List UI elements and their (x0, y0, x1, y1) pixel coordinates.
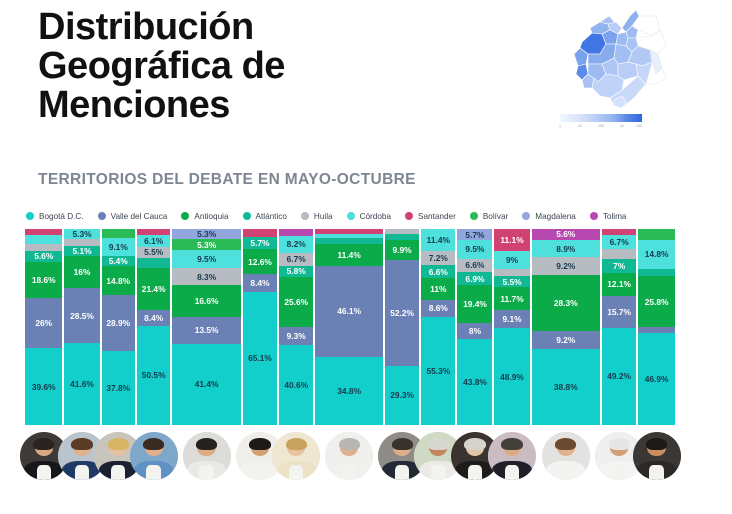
chart-column[interactable]: 9.1%5.4%14.8%28.9%37.8% (102, 229, 135, 425)
chart-segment[interactable]: 41.6% (64, 343, 99, 425)
chart-segment-label: 5.7% (457, 230, 492, 240)
avatar-hair (555, 438, 576, 450)
chart-segment-label: 9.5% (172, 254, 240, 264)
avatar[interactable] (325, 432, 373, 480)
chart-segment-label: 13.5% (172, 325, 240, 335)
page-title-line-3: Menciones (38, 86, 518, 125)
chart-segment-label: 6.9% (457, 274, 492, 284)
legend-item-label: Bolívar (483, 212, 508, 221)
chart-segment-label: 46.9% (638, 374, 675, 384)
chart-segment[interactable]: 12.6% (243, 249, 277, 275)
chart-segment[interactable]: 5.8% (279, 266, 313, 277)
chart-segment-label: 8% (457, 326, 492, 336)
avatar-cell[interactable] (315, 432, 383, 488)
chart-segment-label: 5.3% (64, 229, 99, 239)
chart-segment[interactable]: 9.5% (172, 250, 240, 269)
avatar-cell[interactable] (172, 432, 240, 488)
chart-segment[interactable]: 9.9% (385, 240, 419, 260)
legend-swatch-icon (405, 212, 413, 220)
chart-segment[interactable]: 5.4% (102, 256, 135, 267)
chart-segment[interactable]: 39.6% (25, 348, 62, 425)
legend-item-label: Tolima (603, 212, 627, 221)
colombia-map: 1 10 100 1k 10k (552, 2, 680, 140)
chart-segment-label: 38.8% (532, 382, 600, 392)
chart-segment-label: 39.6% (25, 382, 62, 392)
chart-segment[interactable]: 9.1% (102, 238, 135, 256)
legend-swatch-icon (347, 212, 355, 220)
chart-segment-label: 5.7% (243, 238, 277, 248)
avatar-shirt (395, 465, 409, 480)
chart-segment[interactable]: 38.8% (532, 349, 600, 425)
chart-column[interactable]: 5.7%9.5%6.6%6.9%19.4%8%43.8% (457, 229, 492, 425)
chart-segment[interactable]: 25.8% (638, 276, 675, 327)
legend-item-label: Córdoba (360, 212, 391, 221)
chart-segment[interactable]: 14.8% (102, 266, 135, 295)
chart-segment-label: 11.7% (494, 294, 529, 304)
chart-segment[interactable]: 9.1% (494, 310, 529, 328)
chart-segment-label: 49.2% (602, 371, 636, 381)
avatar-hair (108, 438, 129, 450)
avatar-cell[interactable] (279, 432, 313, 488)
map-tick-4: 10k (636, 124, 642, 128)
chart-column[interactable]: 8.2%6.7%5.8%25.6%9.3%40.6% (279, 229, 313, 425)
map-tick-2: 100 (598, 124, 604, 128)
chart-segment-label: 9.2% (532, 261, 600, 271)
chart-segment[interactable]: 7.2% (421, 251, 455, 265)
chart-segment-label: 9.5% (457, 244, 492, 254)
chart-segment-label: 34.8% (315, 386, 383, 396)
avatar-cell[interactable] (532, 432, 600, 488)
avatar-shirt (253, 465, 267, 480)
chart-segment-label: 26% (25, 318, 62, 328)
avatar-hair (428, 438, 449, 450)
chart-segment[interactable]: 14.8% (638, 240, 675, 269)
avatar-hair (71, 438, 92, 450)
chart-segment-label: 28.9% (102, 318, 135, 328)
legend-item-huila[interactable]: Huila (301, 212, 333, 221)
chart-segment[interactable]: 11.4% (315, 244, 383, 266)
avatar-cell[interactable] (25, 432, 62, 488)
chart-segment[interactable]: 25.6% (279, 277, 313, 327)
chart-column[interactable]: 5.6%18.6%26%39.6% (25, 229, 62, 425)
chart-column[interactable]: 5.3%5.3%9.5%8.3%16.6%13.5%41.4% (172, 229, 240, 425)
chart-segment[interactable] (602, 249, 636, 259)
chart-segment-label: 28.3% (532, 298, 600, 308)
candidate-photo-row (25, 432, 675, 488)
avatar-hair (464, 438, 485, 450)
chart-segment-label: 5.1% (64, 246, 99, 256)
chart-segment-label: 5.6% (25, 251, 62, 261)
chart-segment[interactable]: 6.1% (137, 235, 170, 247)
chart-segment[interactable] (64, 239, 99, 246)
avatar-hair (286, 438, 307, 450)
chart-segment[interactable]: 50.5% (137, 326, 170, 425)
chart-segment[interactable]: 15.7% (602, 296, 636, 327)
legend-item-label: Bogotá D.C. (39, 212, 84, 221)
chart-segment[interactable]: 9.2% (532, 331, 600, 349)
chart-segment-label: 5.3% (172, 229, 240, 239)
avatar-hair (646, 438, 667, 450)
chart-legend: Bogotá D.C.Valle del CaucaAntioquiaAtlán… (26, 208, 726, 224)
chart-column[interactable]: 14.8%25.8%46.9% (638, 229, 675, 425)
chart-segment-label: 25.6% (279, 297, 313, 307)
chart-segment-label: 9.1% (494, 314, 529, 324)
chart-segment-label: 5.4% (102, 256, 135, 266)
chart-segment-label: 41.6% (64, 379, 99, 389)
avatar-shirt (75, 465, 89, 480)
chart-segment[interactable]: 8.4% (137, 310, 170, 326)
chart-segment[interactable] (638, 269, 675, 277)
legend-item-label: Valle del Cauca (111, 212, 168, 221)
legend-swatch-icon (590, 212, 598, 220)
chart-segment-label: 9.2% (532, 335, 600, 345)
chart-segment-label: 65.1% (243, 353, 277, 363)
avatar-shirt (559, 465, 573, 480)
chart-segment[interactable]: 6.9% (457, 272, 492, 286)
chart-segment[interactable] (25, 235, 62, 243)
legend-item-tolima[interactable]: Tolima (590, 212, 627, 221)
chart-segment-label: 14.8% (102, 276, 135, 286)
legend-item-c-rdoba[interactable]: Córdoba (347, 212, 391, 221)
avatar-shirt (468, 465, 482, 480)
chart-segment-label: 7% (602, 261, 636, 271)
chart-segment-label: 6.6% (421, 267, 455, 277)
avatar-shirt (431, 465, 445, 480)
chart-segment-label: 46.1% (315, 306, 383, 316)
chart-segment[interactable]: 26% (25, 298, 62, 348)
chart-segment-label: 55.3% (421, 366, 455, 376)
avatar[interactable] (130, 432, 178, 480)
avatar-hair (501, 438, 522, 450)
chart-segment[interactable] (494, 269, 529, 276)
map-tick-0: 1 (559, 124, 561, 128)
chart-segment-label: 15.7% (602, 307, 636, 317)
avatar-hair (196, 438, 217, 450)
chart-segment[interactable]: 16.6% (172, 285, 240, 318)
chart-segment-label: 37.8% (102, 383, 135, 393)
legend-swatch-icon (98, 212, 106, 220)
chart-segment-label: 11% (421, 284, 455, 294)
chart-column[interactable]: 5.3%5.1%16%28.5%41.6% (64, 229, 99, 425)
chart-segment[interactable]: 28.5% (64, 288, 99, 344)
legend-item-atl-ntico[interactable]: Atlántico (243, 212, 287, 221)
chart-segment[interactable] (243, 229, 277, 237)
avatar-cell[interactable] (494, 432, 529, 488)
chart-column[interactable]: 5.6%8.9%9.2%28.3%9.2%38.8% (532, 229, 600, 425)
legend-swatch-icon (522, 212, 530, 220)
legend-swatch-icon (26, 212, 34, 220)
chart-column[interactable]: 6.7%7%12.1%15.7%49.2% (602, 229, 636, 425)
chart-segment-label: 40.6% (279, 380, 313, 390)
chart-segment[interactable]: 9.5% (457, 240, 492, 259)
legend-item-label: Antioquia (194, 212, 228, 221)
chart-segment[interactable]: 48.9% (494, 328, 529, 425)
chart-segment-label: 21.4% (137, 284, 170, 294)
chart-segment[interactable]: 5.5% (137, 247, 170, 258)
chart-segment[interactable]: 28.9% (102, 295, 135, 351)
legend-item-label: Santander (418, 212, 456, 221)
chart-segment[interactable]: 13.5% (172, 317, 240, 343)
chart-segment[interactable]: 8.4% (243, 274, 277, 291)
avatar[interactable] (272, 432, 320, 480)
chart-segment[interactable]: 5.3% (172, 229, 240, 239)
chart-segment[interactable] (25, 244, 62, 251)
chart-column[interactable]: 11.4%46.1%34.8% (315, 229, 383, 425)
chart-segment[interactable]: 5.3% (172, 239, 240, 249)
chart-segment[interactable]: 11.4% (421, 229, 455, 251)
legend-item-bogot-d-c[interactable]: Bogotá D.C. (26, 212, 84, 221)
avatar-shirt (199, 465, 213, 480)
chart-segment-label: 6.6% (457, 260, 492, 270)
avatar-hair (143, 438, 164, 450)
chart-segment[interactable]: 6.6% (457, 259, 492, 272)
chart-column[interactable]: 11.1%9%5.5%11.7%9.1%48.9% (494, 229, 529, 425)
legend-swatch-icon (470, 212, 478, 220)
avatar-cell[interactable] (137, 432, 170, 488)
chart-segment[interactable]: 28.3% (532, 275, 600, 330)
chart-subtitle: TERRITORIOS DEL DEBATE EN MAYO-OCTUBRE (38, 171, 416, 189)
stacked-bar-chart: 5.6%18.6%26%39.6%5.3%5.1%16%28.5%41.6%9.… (25, 229, 675, 425)
chart-segment-label: 5.6% (532, 229, 600, 239)
page-title-line-1: Distribución (38, 8, 518, 47)
chart-segment[interactable]: 8.2% (279, 236, 313, 252)
avatar-shirt (289, 465, 303, 480)
map-tick-1: 10 (578, 124, 582, 128)
chart-segment-label: 5.3% (172, 240, 240, 250)
avatar-hair (339, 438, 360, 450)
avatar-shirt (505, 465, 519, 480)
chart-segment[interactable]: 65.1% (243, 292, 277, 425)
avatar-hair (609, 438, 630, 450)
legend-item-bol-var[interactable]: Bolívar (470, 212, 508, 221)
chart-segment[interactable]: 7% (602, 259, 636, 273)
avatar-shirt (649, 465, 663, 480)
chart-segment[interactable]: 46.1% (315, 266, 383, 356)
chart-column[interactable]: 6.1%5.5%21.4%8.4%50.5% (137, 229, 170, 425)
chart-segment[interactable]: 6.6% (421, 265, 455, 278)
avatar[interactable] (633, 432, 681, 480)
avatar-hair (392, 438, 413, 450)
chart-segment-label: 19.4% (457, 299, 492, 309)
map-scale-ticks: 1 10 100 1k 10k (556, 124, 652, 133)
chart-segment-label: 5.5% (494, 277, 529, 287)
legend-item-label: Atlántico (256, 212, 287, 221)
chart-segment-label: 16% (64, 267, 99, 277)
chart-segment[interactable]: 5.6% (532, 229, 600, 240)
chart-segment-label: 48.9% (494, 372, 529, 382)
chart-segment[interactable]: 46.9% (638, 333, 675, 425)
chart-segment-label: 8.2% (279, 239, 313, 249)
chart-segment-label: 6.7% (602, 237, 636, 247)
chart-segment[interactable]: 49.2% (602, 328, 636, 425)
chart-segment[interactable] (279, 229, 313, 236)
chart-segment[interactable]: 37.8% (102, 351, 135, 425)
chart-segment[interactable]: 19.4% (457, 285, 492, 323)
chart-segment[interactable]: 5.1% (64, 246, 99, 256)
legend-item-label: Magdalena (535, 212, 576, 221)
chart-segment-label: 8.3% (172, 272, 240, 282)
chart-column[interactable]: 5.7%12.6%8.4%65.1% (243, 229, 277, 425)
legend-item-magdalena[interactable]: Magdalena (522, 212, 576, 221)
chart-segment[interactable]: 5.5% (494, 276, 529, 287)
chart-segment[interactable]: 52.2% (385, 260, 419, 365)
avatar-shirt (111, 465, 125, 480)
chart-segment[interactable]: 11% (421, 278, 455, 300)
chart-segment[interactable]: 9% (494, 251, 529, 269)
legend-item-antioquia[interactable]: Antioquia (181, 212, 228, 221)
chart-segment[interactable]: 43.8% (457, 339, 492, 425)
chart-segment[interactable]: 11.7% (494, 287, 529, 310)
chart-segment[interactable]: 5.3% (64, 229, 99, 239)
chart-segment-label: 5.5% (137, 247, 170, 257)
avatar-shirt (612, 465, 626, 480)
chart-segment-label: 8.6% (421, 303, 455, 313)
chart-segment-label: 12.1% (602, 279, 636, 289)
chart-segment-label: 9.1% (102, 242, 135, 252)
chart-column[interactable]: 9.9%52.2%29.3% (385, 229, 419, 425)
chart-segment-label: 6.1% (137, 236, 170, 246)
legend-swatch-icon (181, 212, 189, 220)
avatar-shirt (37, 465, 51, 480)
chart-segment-label: 50.5% (137, 370, 170, 380)
chart-segment-label: 16.6% (172, 296, 240, 306)
chart-segment[interactable]: 5.7% (243, 237, 277, 249)
chart-segment-label: 25.8% (638, 297, 675, 307)
chart-segment[interactable]: 8.6% (421, 300, 455, 317)
chart-segment-label: 8.4% (137, 313, 170, 323)
chart-segment-label: 52.2% (385, 308, 419, 318)
legend-item-valle-del-cauca[interactable]: Valle del Cauca (98, 212, 168, 221)
chart-segment[interactable]: 9.2% (532, 257, 600, 275)
avatar-cell[interactable] (602, 432, 636, 488)
colombia-map-svg (552, 2, 680, 114)
chart-segment-label: 43.8% (457, 377, 492, 387)
chart-segment-label: 9% (494, 255, 529, 265)
legend-item-label: Huila (314, 212, 333, 221)
chart-column[interactable]: 11.4%7.2%6.6%11%8.6%55.3% (421, 229, 455, 425)
chart-segment[interactable] (102, 229, 135, 238)
map-color-scale (560, 114, 642, 122)
chart-segment-label: 5.8% (279, 266, 313, 276)
chart-segment-label: 41.4% (172, 379, 240, 389)
chart-segment[interactable]: 5.6% (25, 251, 62, 262)
avatar[interactable] (183, 432, 231, 480)
legend-swatch-icon (243, 212, 251, 220)
legend-swatch-icon (301, 212, 309, 220)
avatar[interactable] (542, 432, 590, 480)
chart-segment[interactable]: 18.6% (25, 262, 62, 298)
avatar-hair (249, 438, 270, 450)
chart-segment[interactable]: 8.3% (172, 268, 240, 284)
chart-segment-label: 14.8% (638, 249, 675, 259)
chart-segment-label: 6.7% (279, 254, 313, 264)
chart-segment[interactable]: 21.4% (137, 268, 170, 310)
chart-segment-label: 8.9% (532, 244, 600, 254)
legend-item-santander[interactable]: Santander (405, 212, 456, 221)
chart-segment-label: 8.4% (243, 278, 277, 288)
chart-segment[interactable]: 12.1% (602, 273, 636, 297)
avatar-shirt (342, 465, 356, 480)
chart-segment-label: 18.6% (25, 275, 62, 285)
chart-segment-label: 11.1% (494, 235, 529, 245)
chart-segment[interactable]: 9.3% (279, 327, 313, 345)
avatar-hair (33, 438, 54, 450)
chart-segment[interactable]: 8% (457, 323, 492, 339)
page-title-line-2: Geográfica de (38, 47, 518, 86)
chart-segment[interactable]: 6.7% (279, 253, 313, 266)
chart-segment[interactable]: 40.6% (279, 345, 313, 425)
chart-segment[interactable]: 8.9% (532, 240, 600, 257)
chart-segment-label: 12.6% (243, 257, 277, 267)
chart-segment[interactable]: 6.7% (602, 235, 636, 248)
chart-segment-label: 28.5% (64, 311, 99, 321)
chart-segment-label: 7.2% (421, 253, 455, 263)
chart-segment[interactable] (638, 229, 675, 240)
avatar-cell[interactable] (638, 432, 675, 488)
chart-segment[interactable]: 16% (64, 256, 99, 287)
chart-segment[interactable]: 41.4% (172, 344, 240, 425)
map-tick-3: 1k (620, 124, 624, 128)
chart-segment[interactable]: 29.3% (385, 366, 419, 425)
chart-segment[interactable]: 34.8% (315, 357, 383, 425)
avatar[interactable] (488, 432, 536, 480)
chart-segment-label: 29.3% (385, 390, 419, 400)
avatar-shirt (146, 465, 160, 480)
chart-segment-label: 9.3% (279, 331, 313, 341)
page-title: Distribución Geográfica de Menciones (38, 8, 518, 125)
chart-segment-label: 9.9% (385, 245, 419, 255)
chart-segment[interactable]: 55.3% (421, 317, 455, 425)
chart-segment[interactable] (137, 258, 170, 268)
chart-segment[interactable]: 11.1% (494, 229, 529, 251)
chart-segment-label: 11.4% (421, 235, 455, 245)
chart-segment[interactable]: 5.7% (457, 229, 492, 240)
page-header: Distribución Geográfica de Menciones (0, 0, 732, 150)
chart-segment-label: 11.4% (315, 250, 383, 260)
